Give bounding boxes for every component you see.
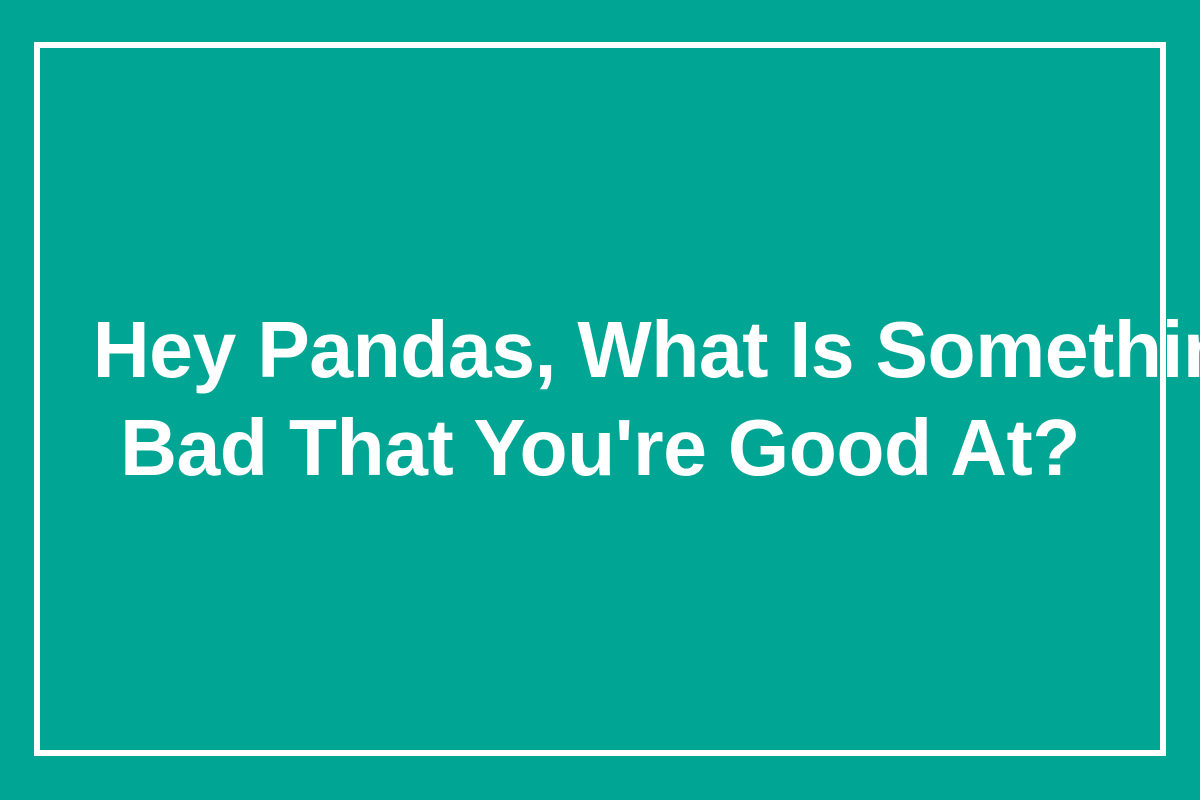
page-title: Hey Pandas, What Is Something Bad That Y… — [83, 301, 1117, 497]
banner-canvas: Hey Pandas, What Is Something Bad That Y… — [0, 0, 1200, 800]
headline-container: Hey Pandas, What Is Something Bad That Y… — [34, 42, 1166, 756]
headline-line-1: Hey Pandas, What Is Something — [93, 301, 1108, 399]
headline-line-2: Bad That You're Good At? — [93, 399, 1108, 497]
